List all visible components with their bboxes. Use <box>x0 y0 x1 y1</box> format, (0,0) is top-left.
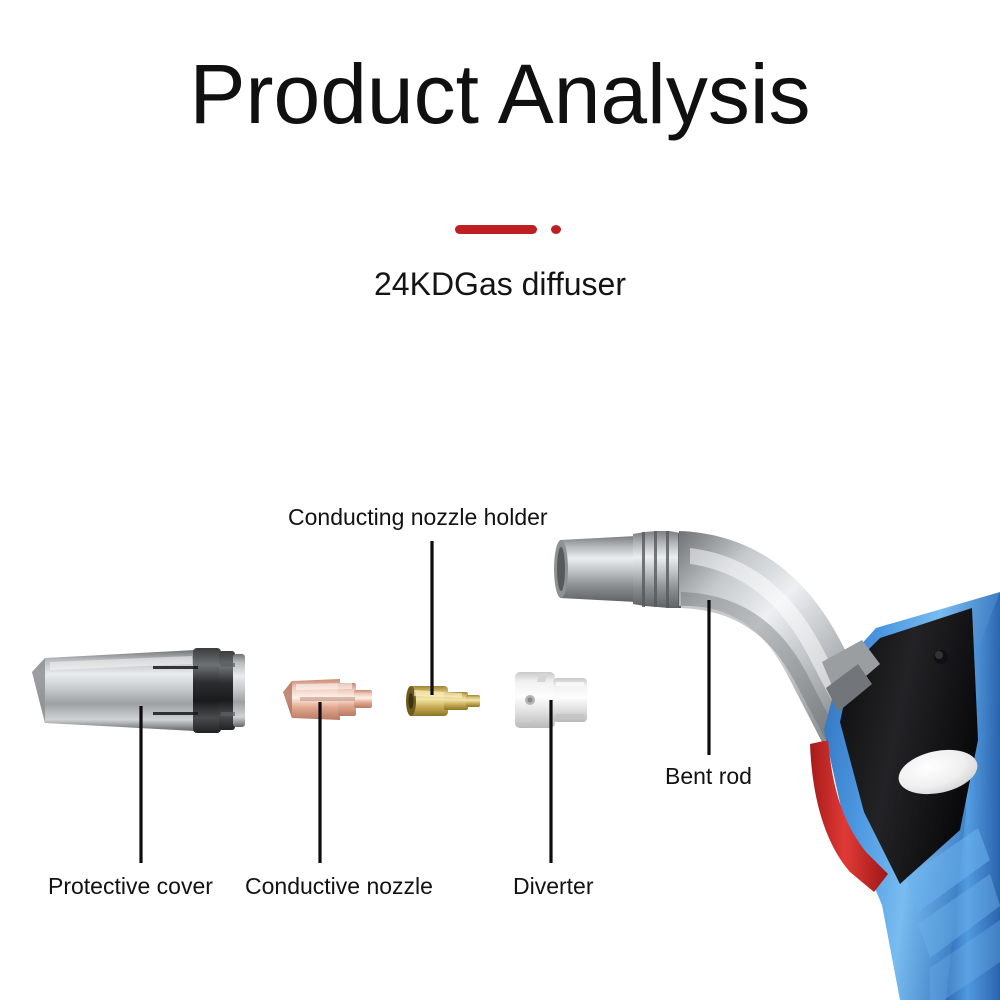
diagram-illustration <box>0 0 1000 1000</box>
callout-label-diverter: Diverter <box>513 875 594 898</box>
part-protective-cover <box>32 648 245 733</box>
callout-label-conductive-nozzle: Conductive nozzle <box>245 875 433 898</box>
part-conducting-nozzle-holder <box>406 686 480 716</box>
callout-label-protective-cover: Protective cover <box>48 875 213 898</box>
rod-threads <box>633 531 681 608</box>
product-exploded-diagram: Conducting nozzle holder Protective cove… <box>0 0 1000 1000</box>
callout-label-bent-rod: Bent rod <box>665 765 752 788</box>
callout-label-conducting-nozzle-holder: Conducting nozzle holder <box>288 506 548 529</box>
part-conductive-nozzle <box>283 679 372 720</box>
part-torch-handle <box>810 592 1000 1000</box>
